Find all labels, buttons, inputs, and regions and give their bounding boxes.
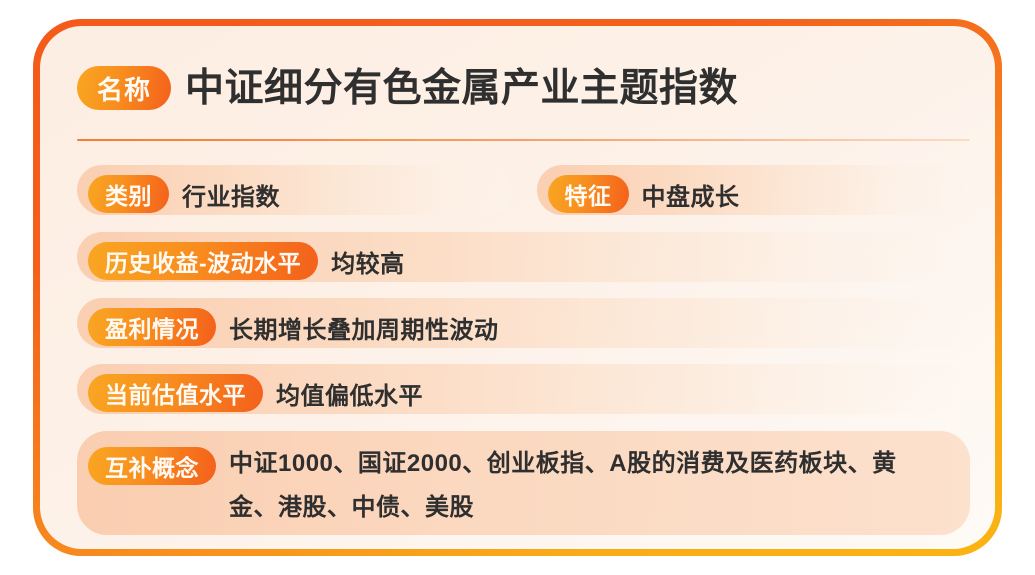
row-value-category: 行业指数	[182, 179, 280, 217]
row-label-feature: 特征	[548, 175, 629, 213]
row-value-complementary-concepts: 中证1000、国证2000、创业板指、A股的消费及医药板块、黄金、港股、中债、美…	[229, 442, 929, 530]
info-card-body: 名称 中证细分有色金属产业主题指数 类别 行业指数 特征 中盘成长 历史收益-波…	[40, 26, 995, 549]
row-label-profitability: 盈利情况	[88, 308, 216, 346]
page-title: 中证细分有色金属产业主题指数	[185, 69, 738, 108]
row-feature: 特征 中盘成长	[537, 165, 971, 215]
row-category: 类别 行业指数	[77, 165, 511, 215]
title-label-pill: 名称	[77, 66, 171, 110]
title-row: 名称 中证细分有色金属产业主题指数	[77, 57, 970, 119]
row-label-category: 类别	[88, 175, 169, 213]
row-profitability: 盈利情况 长期增长叠加周期性波动	[77, 298, 970, 348]
row-value-current-valuation: 均值偏低水平	[276, 378, 423, 416]
row-history-return-volatility: 历史收益-波动水平 均较高	[77, 232, 970, 282]
row-current-valuation: 当前估值水平 均值偏低水平	[77, 364, 970, 414]
title-divider	[77, 139, 970, 141]
info-card-frame: 名称 中证细分有色金属产业主题指数 类别 行业指数 特征 中盘成长 历史收益-波…	[33, 19, 1002, 556]
row-value-profitability: 长期增长叠加周期性波动	[229, 312, 499, 350]
row-value-history-return-volatility: 均较高	[331, 246, 405, 284]
row-label-current-valuation: 当前估值水平	[88, 374, 263, 412]
row-label-complementary-concepts: 互补概念	[88, 447, 216, 485]
row-complementary-concepts: 互补概念 中证1000、国证2000、创业板指、A股的消费及医药板块、黄金、港股…	[77, 431, 970, 535]
row-value-feature: 中盘成长	[642, 179, 740, 217]
row-label-history-return-volatility: 历史收益-波动水平	[88, 242, 318, 280]
row-pair-category-feature: 类别 行业指数 特征 中盘成长	[77, 165, 970, 215]
card-content: 名称 中证细分有色金属产业主题指数 类别 行业指数 特征 中盘成长 历史收益-波…	[77, 57, 970, 535]
